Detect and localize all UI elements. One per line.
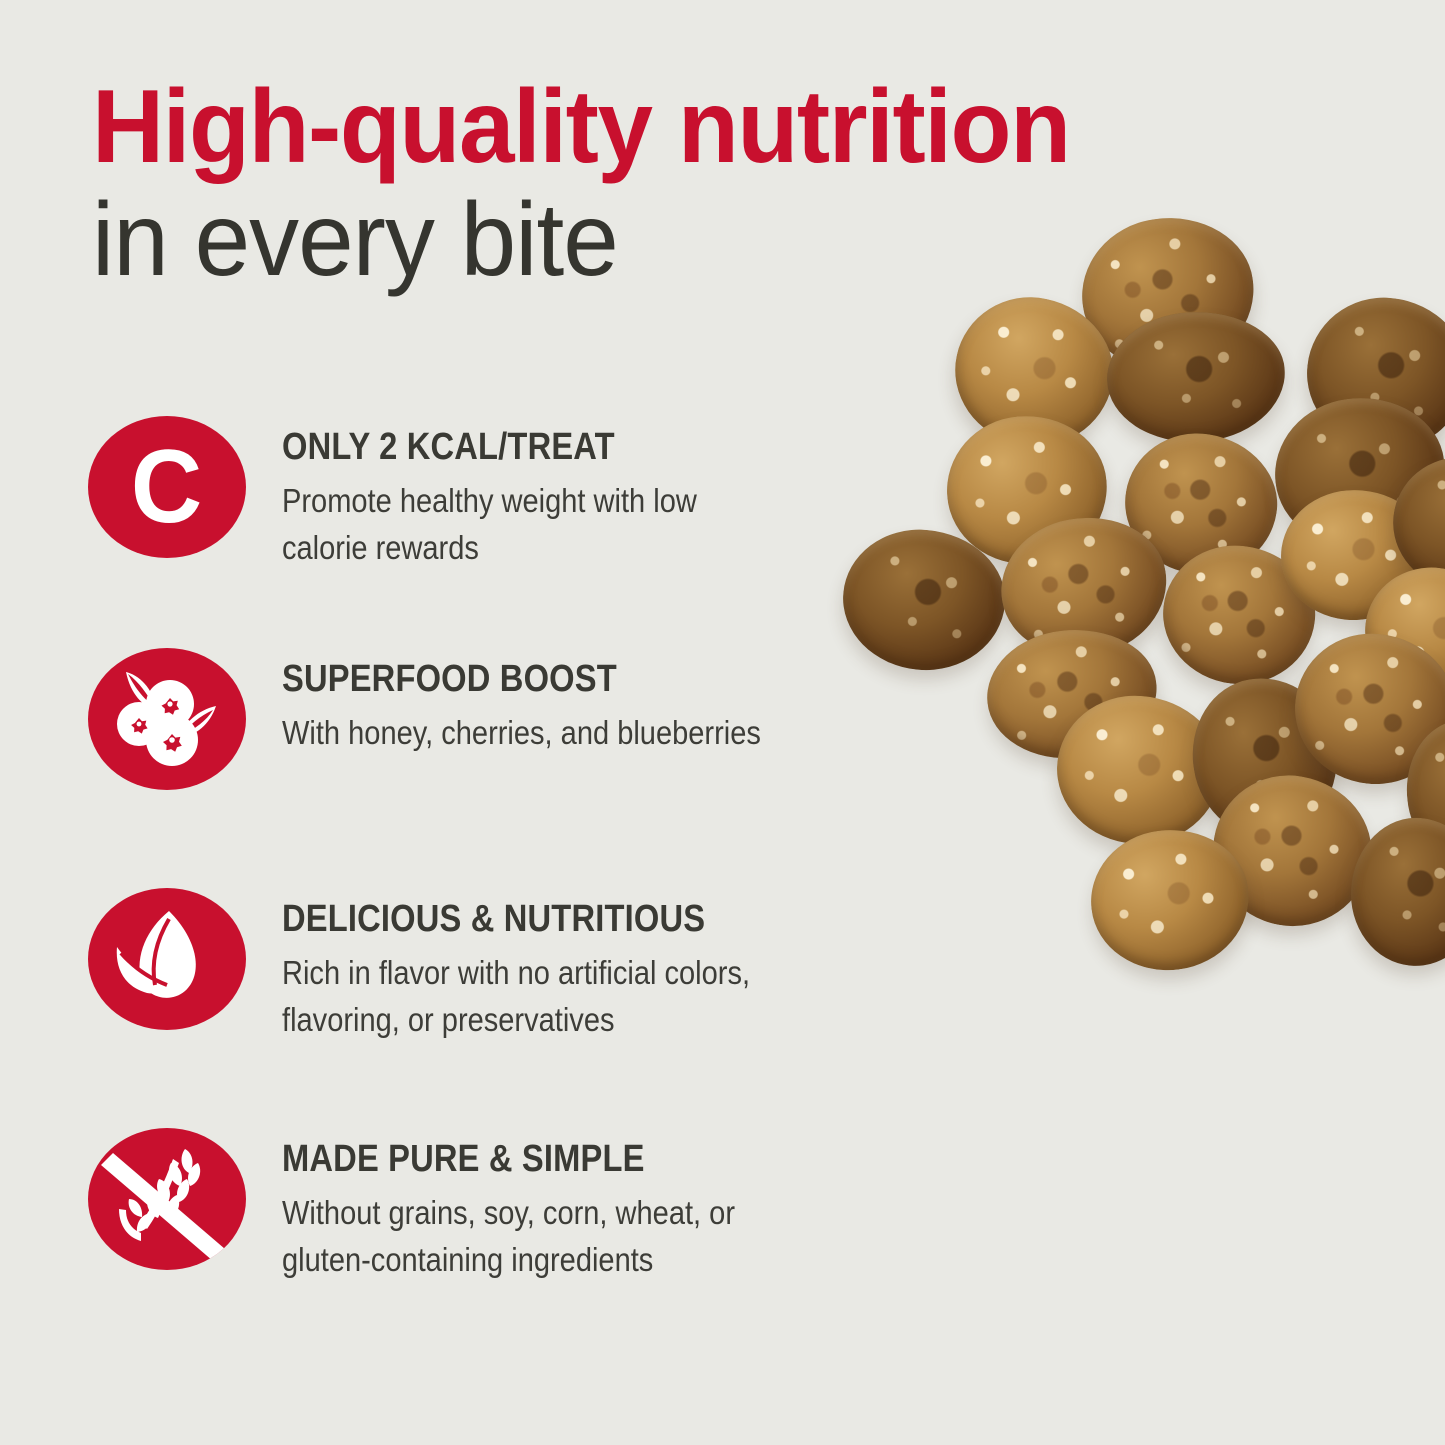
feature-item-superfood: SUPERFOOD BOOST With honey, cherries, an… [88,648,848,790]
feature-title: SUPERFOOD BOOST [282,660,750,700]
feature-description: Promote healthy weight with low calorie … [282,478,780,572]
no-grain-wheat-icon [88,1128,246,1270]
feature-description: Rich in flavor with no artificial colors… [282,950,750,1044]
feature-item-delicious: DELICIOUS & NUTRITIOUS Rich in flavor wi… [88,888,848,1044]
feature-title: MADE PURE & SIMPLE [282,1140,725,1180]
leaves-icon [88,888,246,1030]
berries-icon [88,648,246,790]
infographic-page: High-quality nutrition in every bite C O… [0,0,1445,1445]
feature-text-block: ONLY 2 KCAL/TREAT Promote healthy weight… [246,416,848,572]
badge-letter-c: C [131,435,202,539]
feature-description: With honey, cherries, and blueberries [282,710,761,757]
calorie-letter-c-icon: C [88,416,246,558]
feature-title: DELICIOUS & NUTRITIOUS [282,900,739,940]
feature-text-block: MADE PURE & SIMPLE Without grains, soy, … [246,1128,797,1284]
product-photo-treats [795,190,1445,1445]
feature-description: Without grains, soy, corn, wheat, or glu… [282,1190,735,1284]
feature-text-block: DELICIOUS & NUTRITIOUS Rich in flavor wi… [246,888,814,1044]
feature-item-pure-simple: MADE PURE & SIMPLE Without grains, soy, … [88,1128,848,1284]
feature-title: ONLY 2 KCAL/TREAT [282,428,769,468]
feature-item-calories: C ONLY 2 KCAL/TREAT Promote healthy weig… [88,416,848,572]
feature-text-block: SUPERFOOD BOOST With honey, cherries, an… [246,648,826,757]
